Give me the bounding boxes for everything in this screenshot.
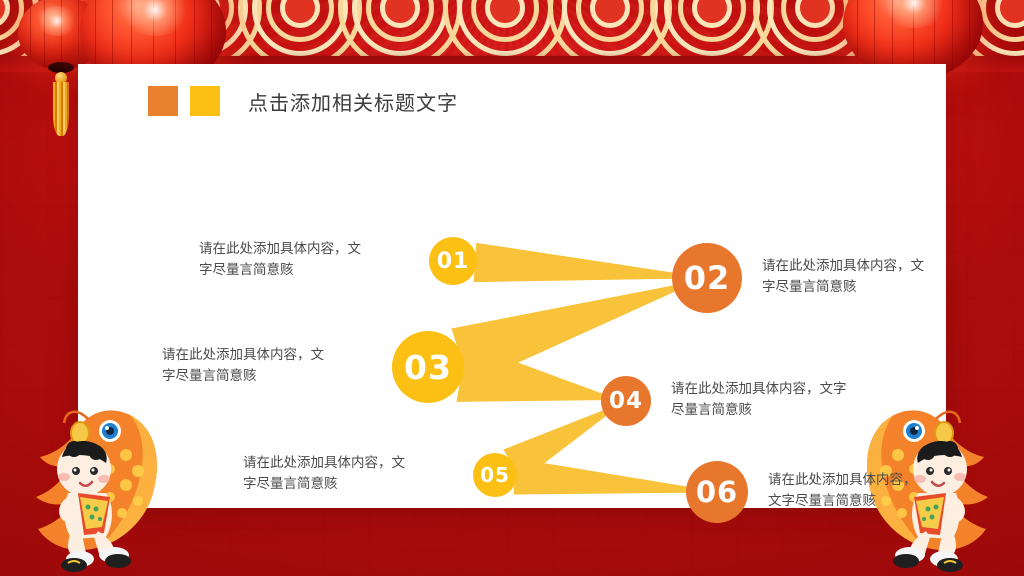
process-diagram: 010203040506 请在此处添加具体内容，文 字尽量言简意赅请在此处添加具… (78, 64, 946, 508)
content-card: 点击添加相关标题文字 010203040506 请在此处添加具体内容，文 字尽量… (78, 64, 946, 508)
ribbon-01-to-02 (474, 243, 675, 282)
node-description-06: 请在此处添加具体内容， 文字尽量言简意赅 (768, 470, 983, 512)
process-node-02[interactable]: 02 (672, 243, 742, 313)
node-label: 02 (684, 259, 731, 297)
process-node-03[interactable]: 03 (392, 331, 464, 403)
node-description-04: 请在此处添加具体内容，文字 尽量言简意赅 (671, 379, 886, 421)
node-description-01: 请在此处添加具体内容，文 字尽量言简意赅 (199, 239, 409, 281)
process-node-06[interactable]: 06 (686, 461, 748, 523)
node-label: 03 (404, 348, 452, 387)
node-description-05: 请在此处添加具体内容，文 字尽量言简意赅 (243, 453, 453, 495)
lantern-tassel (53, 82, 69, 136)
node-label: 01 (437, 249, 470, 274)
node-label: 06 (696, 475, 738, 509)
process-node-04[interactable]: 04 (601, 376, 651, 426)
node-description-02: 请在此处添加具体内容，文 字尽量言简意赅 (762, 256, 977, 298)
slide-canvas: 点击添加相关标题文字 010203040506 请在此处添加具体内容，文 字尽量… (0, 0, 1024, 576)
node-description-03: 请在此处添加具体内容，文 字尽量言简意赅 (162, 345, 372, 387)
process-node-01[interactable]: 01 (429, 237, 477, 285)
new-year-baby-riding-koi-left (22, 397, 172, 572)
ribbon-05-to-06 (514, 459, 689, 495)
node-label: 04 (609, 388, 643, 414)
process-node-05[interactable]: 05 (473, 453, 517, 497)
node-label: 05 (480, 463, 510, 487)
